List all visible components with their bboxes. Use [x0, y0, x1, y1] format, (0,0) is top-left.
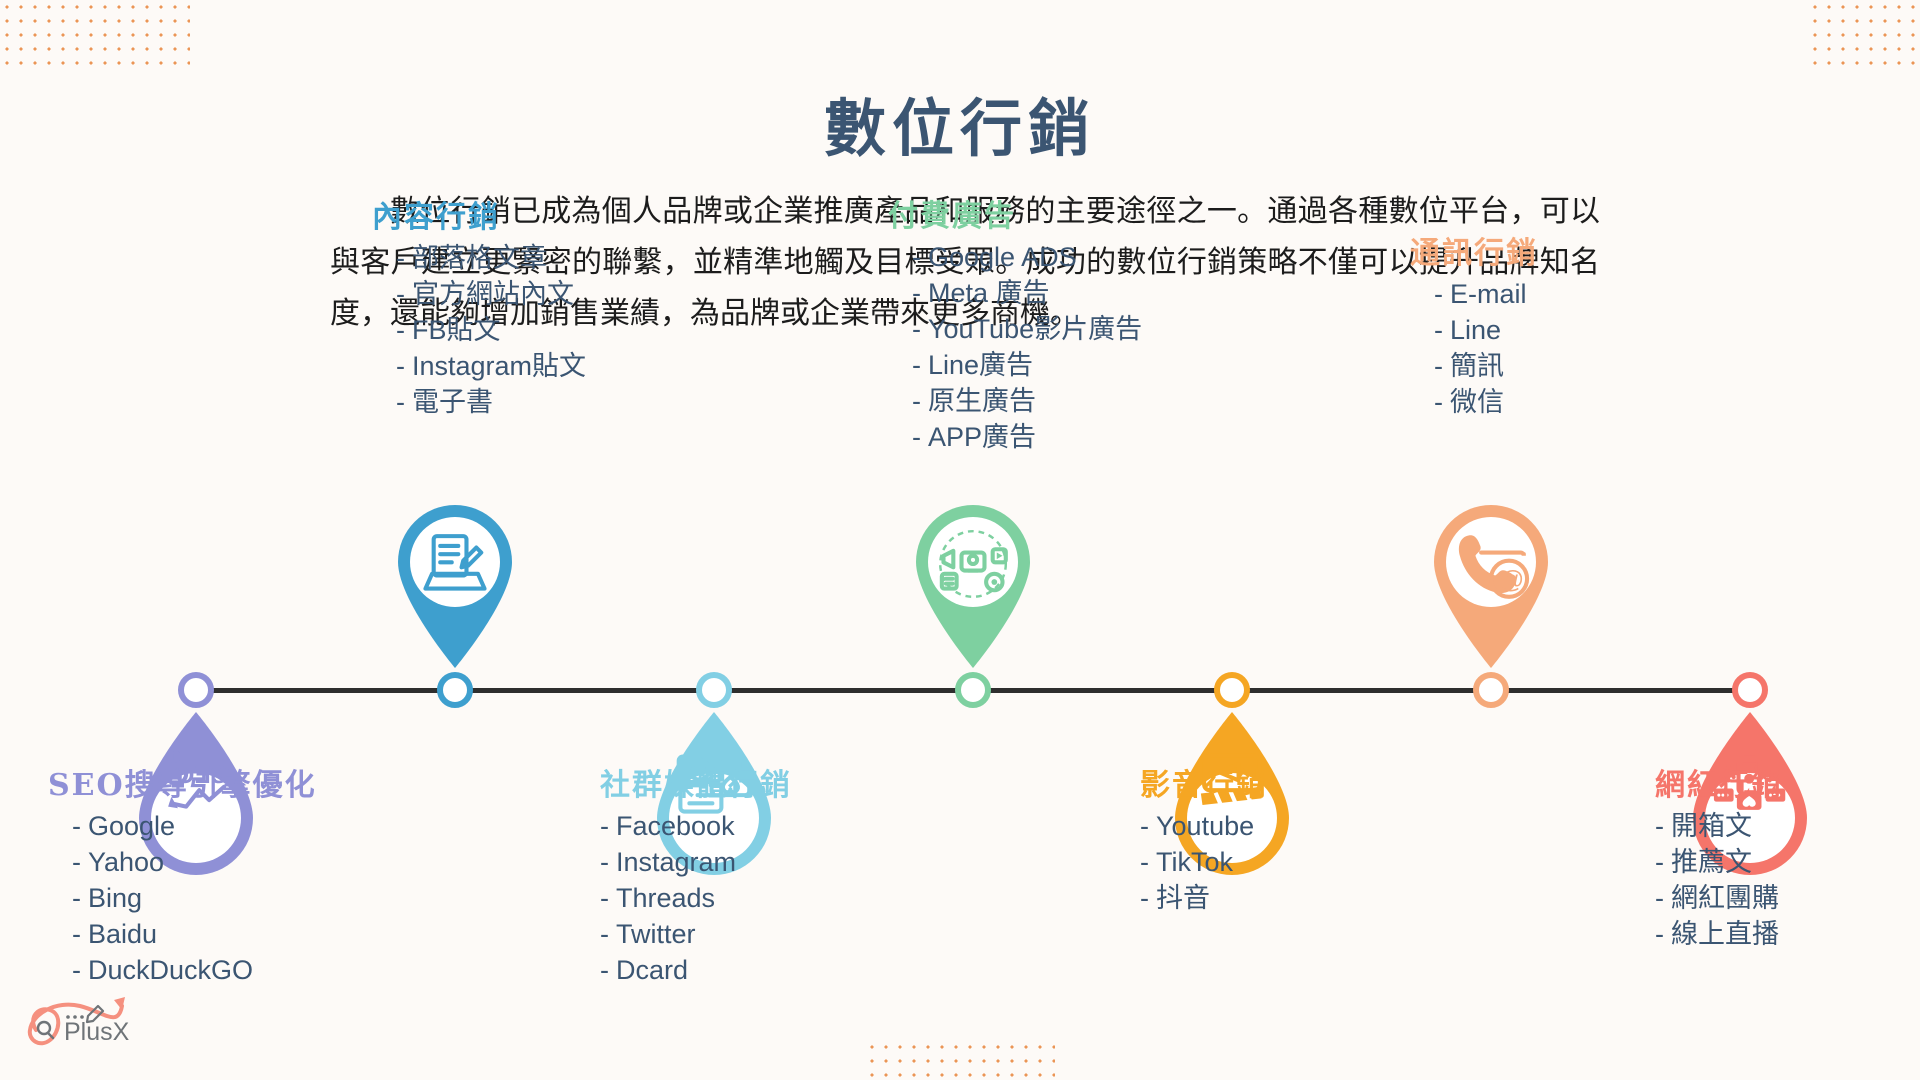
document-laptop-icon: [414, 523, 496, 605]
brand-name: PlusX: [64, 1018, 130, 1046]
list-item: -Bing: [72, 880, 317, 916]
dot-pattern-top-right: [1808, 0, 1920, 72]
list-item: -線上直播: [1655, 916, 1783, 952]
search-icon: [38, 1022, 53, 1038]
list-item: -電子書: [396, 384, 586, 420]
dash-bullet: -: [912, 350, 921, 380]
section-block-seo: SEO搜尋引擎優化-Google-Yahoo-Bing-Baidu-DuckDu…: [48, 760, 317, 988]
section-title-seo: SEO搜尋引擎優化: [48, 760, 317, 804]
dash-bullet: -: [72, 811, 81, 841]
dash-bullet: -: [1434, 387, 1443, 417]
phone-email-icon: @: [1450, 523, 1532, 605]
dash-bullet: -: [600, 811, 609, 841]
list-item: -原生廣告: [912, 383, 1142, 419]
list-item: -推薦文: [1655, 844, 1783, 880]
section-list-seo: -Google-Yahoo-Bing-Baidu-DuckDuckGO: [48, 808, 317, 988]
dash-bullet: -: [396, 315, 405, 345]
list-item: -Instagram貼文: [396, 348, 586, 384]
timeline-node-seo[interactable]: [178, 672, 214, 708]
timeline-node-content-marketing[interactable]: [437, 672, 473, 708]
dash-bullet: -: [72, 883, 81, 913]
list-item: -Line廣告: [912, 347, 1142, 383]
list-item: -網紅團購: [1655, 880, 1783, 916]
list-item: -Dcard: [600, 952, 792, 988]
dash-bullet: -: [600, 919, 609, 949]
dash-bullet: -: [1655, 883, 1664, 913]
list-item: -Yahoo: [72, 844, 317, 880]
dash-bullet: -: [396, 279, 405, 309]
dash-bullet: -: [912, 422, 921, 452]
section-block-video-marketing: 影音行銷-Youtube-TikTok-抖音: [1140, 760, 1268, 916]
section-list-influencer-marketing: -開箱文-推薦文-網紅團購-線上直播: [1655, 808, 1783, 952]
list-item: -微信: [1434, 384, 1538, 420]
list-item: -Google: [72, 808, 317, 844]
list-item: -Instagram: [600, 844, 792, 880]
list-item: -APP廣告: [912, 419, 1142, 455]
section-block-messaging-marketing: 通訊行銷-E-mail-Line-簡訊-微信: [1410, 228, 1538, 420]
list-item: -簡訊: [1434, 348, 1538, 384]
timeline-node-paid-ads[interactable]: [955, 672, 991, 708]
ads-megaphone-icon: [932, 523, 1014, 605]
list-item: -開箱文: [1655, 808, 1783, 844]
section-list-social-media-marketing: -Facebook-Instagram-Threads-Twitter-Dcar…: [600, 808, 792, 988]
dash-bullet: -: [1140, 847, 1149, 877]
svg-text:@: @: [1499, 567, 1524, 594]
dot-pattern-top-left: [0, 0, 190, 72]
section-block-content-marketing: 內容行銷-部落格文章-官方網站內文-FB貼文-Instagram貼文-電子書: [372, 192, 586, 420]
dash-bullet: -: [1655, 847, 1664, 877]
dash-bullet: -: [1655, 919, 1664, 949]
section-title-video-marketing: 影音行銷: [1140, 760, 1268, 804]
map-pin-paid-ads[interactable]: [898, 490, 1048, 672]
section-title-messaging-marketing: 通訊行銷: [1410, 228, 1538, 272]
dash-bullet: -: [72, 955, 81, 985]
list-item: -官方網站內文: [396, 276, 586, 312]
page-title: 數位行銷: [0, 78, 1920, 168]
list-item: -TikTok: [1140, 844, 1268, 880]
dash-bullet: -: [912, 278, 921, 308]
dash-bullet: -: [600, 955, 609, 985]
dash-bullet: -: [912, 386, 921, 416]
dash-bullet: -: [912, 242, 921, 272]
list-item: -Twitter: [600, 916, 792, 952]
timeline-node-messaging-marketing[interactable]: [1473, 672, 1509, 708]
list-item: -Threads: [600, 880, 792, 916]
timeline-node-social-media-marketing[interactable]: [696, 672, 732, 708]
list-item: -Google ADS: [912, 239, 1142, 275]
section-block-paid-ads: 付費廣告-Google ADS-Meta 廣告-YouTube影片廣告-Line…: [888, 191, 1142, 455]
list-item: -Youtube: [1140, 808, 1268, 844]
dash-bullet: -: [1140, 883, 1149, 913]
section-title-social-media-marketing: 社群媒體行銷: [600, 760, 792, 804]
list-item: -DuckDuckGO: [72, 952, 317, 988]
dash-bullet: -: [1434, 351, 1443, 381]
dash-bullet: -: [396, 243, 405, 273]
section-title-paid-ads: 付費廣告: [888, 191, 1142, 235]
section-title-influencer-marketing: 網紅行銷: [1655, 760, 1783, 804]
list-item: -Meta 廣告: [912, 275, 1142, 311]
list-item: -YouTube影片廣告: [912, 311, 1142, 347]
map-pin-messaging-marketing[interactable]: @: [1416, 490, 1566, 672]
list-item: -Baidu: [72, 916, 317, 952]
timeline-node-video-marketing[interactable]: [1214, 672, 1250, 708]
section-list-content-marketing: -部落格文章-官方網站內文-FB貼文-Instagram貼文-電子書: [372, 240, 586, 420]
dash-bullet: -: [396, 351, 405, 381]
section-title-content-marketing: 內容行銷: [372, 192, 586, 236]
timeline-node-influencer-marketing[interactable]: [1732, 672, 1768, 708]
dash-bullet: -: [600, 847, 609, 877]
dash-bullet: -: [600, 883, 609, 913]
section-list-messaging-marketing: -E-mail-Line-簡訊-微信: [1410, 276, 1538, 420]
dash-bullet: -: [1434, 315, 1443, 345]
list-item: -Facebook: [600, 808, 792, 844]
list-item: -FB貼文: [396, 312, 586, 348]
dash-bullet: -: [1140, 811, 1149, 841]
section-block-influencer-marketing: 網紅行銷-開箱文-推薦文-網紅團購-線上直播: [1655, 760, 1783, 952]
dash-bullet: -: [72, 847, 81, 877]
section-block-social-media-marketing: 社群媒體行銷-Facebook-Instagram-Threads-Twitte…: [600, 760, 792, 988]
section-list-paid-ads: -Google ADS-Meta 廣告-YouTube影片廣告-Line廣告-原…: [888, 239, 1142, 455]
brand-logo[interactable]: PlusX: [22, 984, 172, 1062]
map-pin-content-marketing[interactable]: [380, 490, 530, 672]
dash-bullet: -: [396, 387, 405, 417]
dash-bullet: -: [912, 314, 921, 344]
list-item: -部落格文章: [396, 240, 586, 276]
list-item: -抖音: [1140, 880, 1268, 916]
dot-pattern-bottom-center: [865, 1040, 1055, 1080]
dash-bullet: -: [1655, 811, 1664, 841]
dash-bullet: -: [72, 919, 81, 949]
section-list-video-marketing: -Youtube-TikTok-抖音: [1140, 808, 1268, 916]
list-item: -Line: [1434, 312, 1538, 348]
dash-bullet: -: [1434, 279, 1443, 309]
list-item: -E-mail: [1434, 276, 1538, 312]
